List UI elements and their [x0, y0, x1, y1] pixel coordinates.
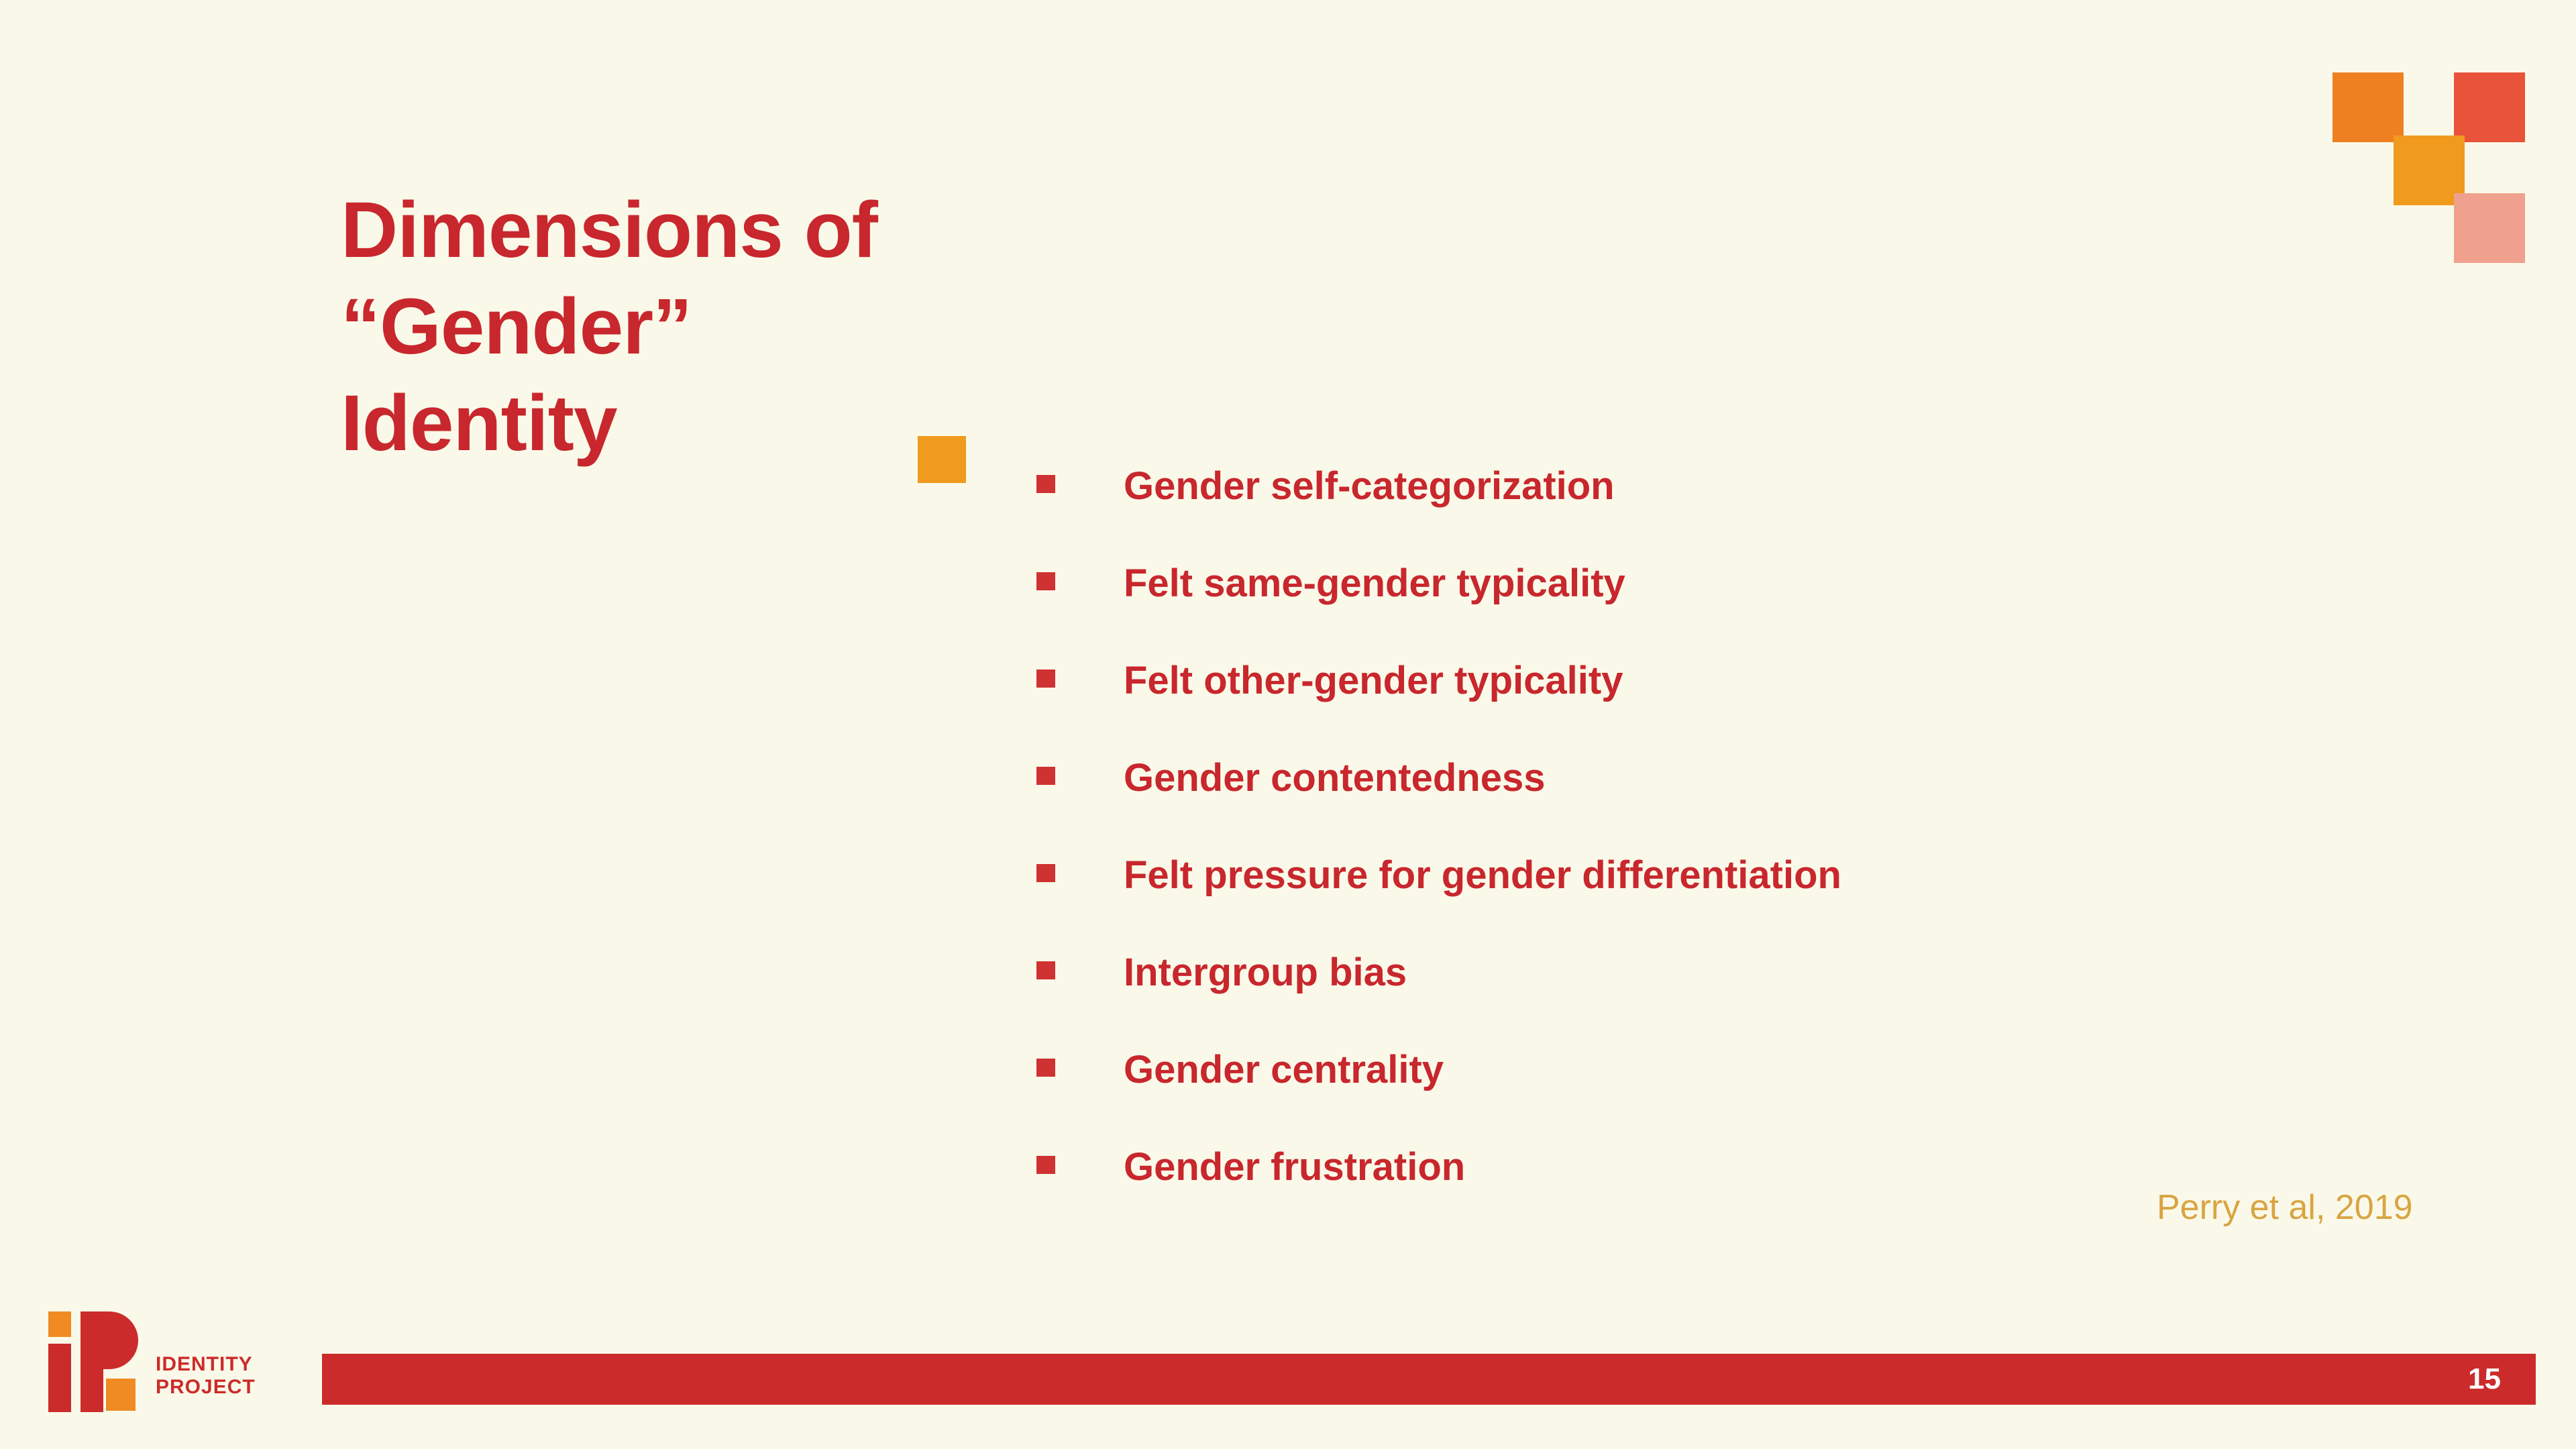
citation-text: Perry et al, 2019: [2157, 1187, 2413, 1228]
logo-i-dot-icon: [48, 1311, 71, 1337]
list-item-label: Gender self-categorization: [1124, 464, 1615, 508]
bullet-square-icon: [1036, 864, 1055, 882]
list-item-label: Felt pressure for gender differentiation: [1124, 853, 1841, 898]
bullet-square-icon: [1036, 961, 1055, 979]
list-item: Intergroup bias: [1036, 956, 2445, 1053]
logo-p-square-icon: [106, 1379, 136, 1411]
title-line-2: “Gender”: [341, 279, 1012, 376]
bullet-square-icon: [1036, 1059, 1055, 1077]
logo-wordmark-line-2: PROJECT: [156, 1376, 256, 1399]
logo-p-bowl-icon: [97, 1311, 138, 1369]
logo-wordmark-line-1: IDENTITY: [156, 1353, 256, 1376]
list-item-label: Felt other-gender typicality: [1124, 658, 1623, 703]
identity-project-logo: IDENTITY PROJECT: [48, 1311, 270, 1412]
accent-square-icon: [918, 436, 966, 483]
bullet-square-icon: [1036, 669, 1055, 688]
list-item: Felt pressure for gender differentiation: [1036, 859, 2445, 956]
title-line-3: Identity: [341, 376, 1012, 472]
slide-canvas: Dimensions of “Gender” Identity Gender s…: [0, 0, 2576, 1449]
logo-wordmark: IDENTITY PROJECT: [156, 1353, 256, 1398]
title-line-1: Dimensions of: [341, 182, 1012, 279]
list-item-label: Intergroup bias: [1124, 950, 1407, 995]
list-item: Gender centrality: [1036, 1053, 2445, 1150]
bullet-list: Gender self-categorization Felt same-gen…: [1036, 470, 2445, 1248]
list-item: Felt same-gender typicality: [1036, 567, 2445, 664]
bullet-square-icon: [1036, 572, 1055, 590]
list-item-label: Gender frustration: [1124, 1144, 1465, 1189]
list-item-label: Felt same-gender typicality: [1124, 561, 1625, 606]
page-number: 15: [2468, 1354, 2501, 1405]
decorative-square-red: [2454, 72, 2525, 142]
footer-bar: 15: [322, 1354, 2536, 1405]
logo-i-stem-icon: [48, 1344, 71, 1412]
bullet-square-icon: [1036, 1156, 1055, 1174]
list-item-label: Gender contentedness: [1124, 755, 1545, 800]
list-item: Gender contentedness: [1036, 761, 2445, 859]
list-item-label: Gender centrality: [1124, 1047, 1444, 1092]
list-item: Gender self-categorization: [1036, 470, 2445, 567]
bullet-square-icon: [1036, 767, 1055, 785]
decorative-square-orange: [2332, 72, 2404, 142]
bullet-square-icon: [1036, 475, 1055, 493]
list-item: Felt other-gender typicality: [1036, 664, 2445, 761]
decorative-square-salmon: [2454, 193, 2525, 263]
slide-title: Dimensions of “Gender” Identity: [341, 182, 1012, 472]
